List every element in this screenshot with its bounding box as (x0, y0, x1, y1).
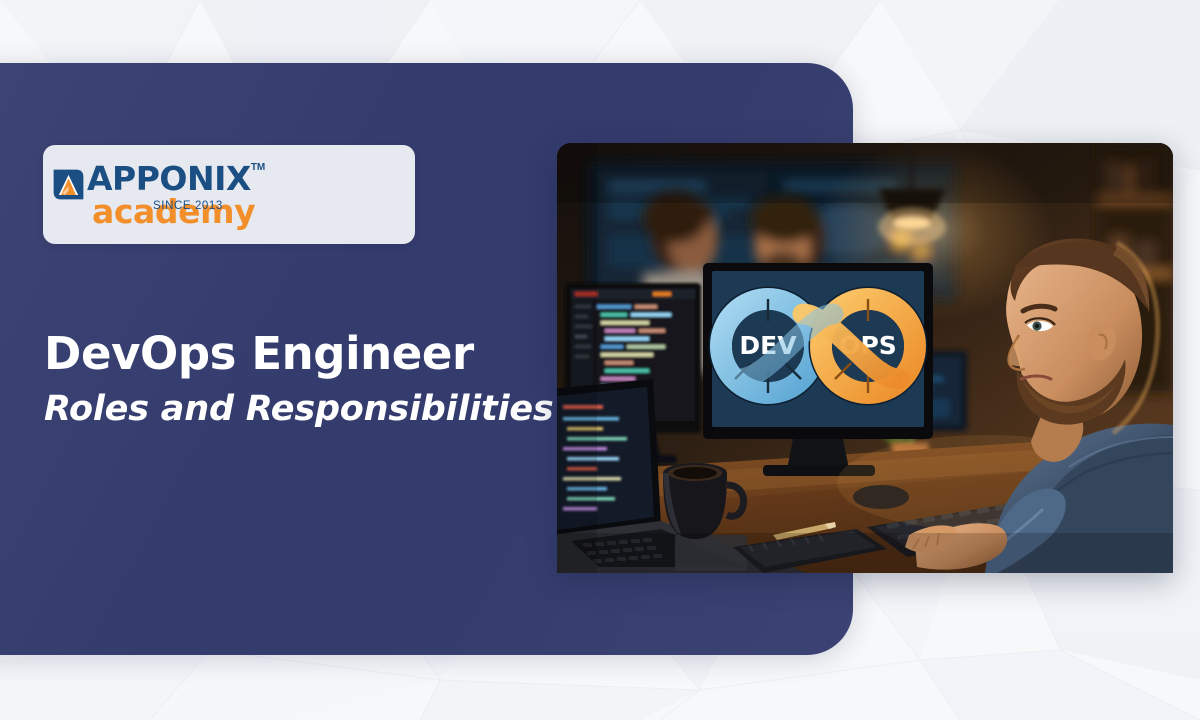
hero-photo: DEV OPS (557, 143, 1173, 573)
page-subtitle: Roles and Responsibilities (44, 388, 564, 430)
headline-block: DevOps Engineer Roles and Responsibiliti… (44, 330, 564, 430)
apponix-academy-logo-card[interactable]: APPONIXTMacademy SINCE 2013 (43, 145, 415, 244)
apponix-triangle-mark-icon (51, 167, 86, 202)
logo-trademark-symbol: TM (251, 163, 265, 173)
hero-photo-illustration: DEV OPS (557, 143, 1173, 573)
logo-word-apponix: APPONIX (87, 162, 251, 195)
logo-wordmark: APPONIXTMacademy SINCE 2013 (87, 162, 415, 228)
page-title: DevOps Engineer (44, 330, 564, 379)
banner-root: APPONIXTMacademy SINCE 2013 DevOps Engin… (0, 0, 1200, 720)
logo-tagline: SINCE 2013 (153, 201, 223, 213)
logo-inner: APPONIXTMacademy SINCE 2013 (51, 162, 415, 228)
